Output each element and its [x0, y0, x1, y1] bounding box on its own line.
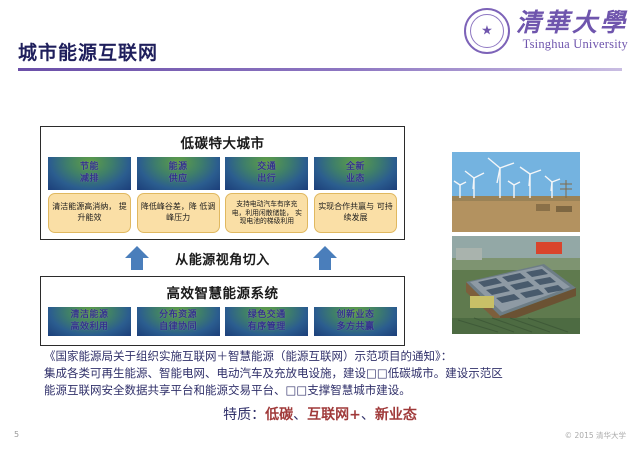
top-panel-title: 低碳特大城市 — [41, 132, 404, 152]
top-head-1: 能源 供应 — [137, 157, 220, 190]
bottom-head-0: 清洁能源 高效利用 — [48, 307, 131, 336]
bottom-head-label-3: 创新业态 多方共赢 — [336, 310, 374, 333]
slide-header: ★ 清華大學 Tsinghua University 城市能源互联网 — [0, 0, 640, 80]
bottom-head-label-0: 清洁能源 高效利用 — [70, 310, 108, 333]
bottom-head-label-1: 分布资源 自律协同 — [159, 310, 197, 333]
copyright-notice: © 2015 清华大学 — [565, 430, 626, 441]
bottom-head-2: 绿色交通 有序管理 — [225, 307, 308, 336]
top-body-label-1: 降低峰谷差，降 低调峰压力 — [141, 202, 216, 224]
transition-label: 从能源视角切入 — [40, 249, 405, 268]
top-panel-body-row: 清洁能源高消纳， 提升能效 降低峰谷差，降 低调峰压力 支持电动汽车有序充 电，… — [41, 193, 404, 233]
top-body-1: 降低峰谷差，降 低调峰压力 — [137, 193, 220, 233]
top-body-0: 清洁能源高消纳， 提升能效 — [48, 193, 131, 233]
bottom-head-label-2: 绿色交通 有序管理 — [248, 310, 286, 333]
quote-line-1: 《国家能源局关于组织实施互联网＋智慧能源（能源互联网）示范项目的通知》： — [44, 348, 604, 365]
bottom-head-1: 分布资源 自律协同 — [137, 307, 220, 336]
top-head-label-0: 节能 减排 — [80, 162, 99, 185]
top-head-0: 节能 减排 — [48, 157, 131, 190]
star-icon: ★ — [481, 25, 493, 38]
transition-band: 从能源视角切入 — [40, 243, 405, 273]
logo-text: 清華大學 Tsinghua University — [516, 10, 628, 52]
tagline-sep-1: 、 — [293, 407, 307, 423]
top-head-3: 全新 业态 — [314, 157, 397, 190]
top-body-label-0: 清洁能源高消纳， 提升能效 — [52, 202, 127, 224]
top-head-label-3: 全新 业态 — [346, 162, 365, 185]
tagline-keyword-3: 新业态 — [375, 407, 417, 423]
top-head-label-2: 交通 出行 — [257, 162, 276, 185]
tagline-keyword-2: 互联网+ — [307, 407, 361, 423]
top-body-label-2: 支持电动汽车有序充 电，利用闲散储能， 实现电池的梯级利用 — [229, 200, 304, 226]
logo-name-en: Tsinghua University — [523, 37, 628, 52]
wind-farm-photo — [452, 152, 580, 232]
quote-line-2: 集成各类可再生能源、智能电网、电动汽车及充放电设施，建设□□低碳城市。建设示范区 — [44, 365, 604, 382]
logo-name-cn: 清華大學 — [516, 10, 628, 36]
quote-line-3: 能源互联网安全数据共享平台和能源交易平台、□□支撑智慧城市建设。 — [44, 382, 604, 399]
tagline: 特质：低碳、互联网+、新业态 — [0, 404, 640, 424]
tsinghua-logo: ★ 清華大學 Tsinghua University — [464, 8, 628, 54]
top-body-label-3: 实现合作共赢与 可持续发展 — [318, 202, 393, 224]
page-title: 城市能源互联网 — [18, 38, 158, 65]
tsinghua-seal-icon: ★ — [464, 8, 510, 54]
title-divider — [18, 68, 622, 71]
top-body-3: 实现合作共赢与 可持续发展 — [314, 193, 397, 233]
page-number: 5 — [14, 430, 19, 439]
low-carbon-megacity-panel: 低碳特大城市 节能 减排 能源 供应 交通 出行 全新 业态 清洁能源高消纳， … — [40, 126, 405, 240]
bottom-head-3: 创新业态 多方共赢 — [314, 307, 397, 336]
top-head-label-1: 能源 供应 — [169, 162, 188, 185]
bottom-panel-title: 高效智慧能源系统 — [41, 282, 404, 302]
tagline-keyword-1: 低碳 — [265, 407, 293, 423]
tagline-prefix: 特质： — [223, 407, 265, 423]
smart-energy-system-panel: 高效智慧能源系统 清洁能源 高效利用 分布资源 自律协同 绿色交通 有序管理 创… — [40, 276, 405, 346]
tagline-sep-2: 、 — [361, 407, 375, 423]
top-body-2: 支持电动汽车有序充 电，利用闲散储能， 实现电池的梯级利用 — [225, 193, 308, 233]
top-panel-head-row: 节能 减排 能源 供应 交通 出行 全新 业态 — [41, 157, 404, 190]
bottom-panel-head-row: 清洁能源 高效利用 分布资源 自律协同 绿色交通 有序管理 创新业态 多方共赢 — [41, 307, 404, 336]
solar-rooftop-photo — [452, 236, 580, 334]
policy-quote: 《国家能源局关于组织实施互联网＋智慧能源（能源互联网）示范项目的通知》： 集成各… — [44, 348, 604, 399]
up-arrow-right-icon — [312, 245, 338, 271]
top-head-2: 交通 出行 — [225, 157, 308, 190]
